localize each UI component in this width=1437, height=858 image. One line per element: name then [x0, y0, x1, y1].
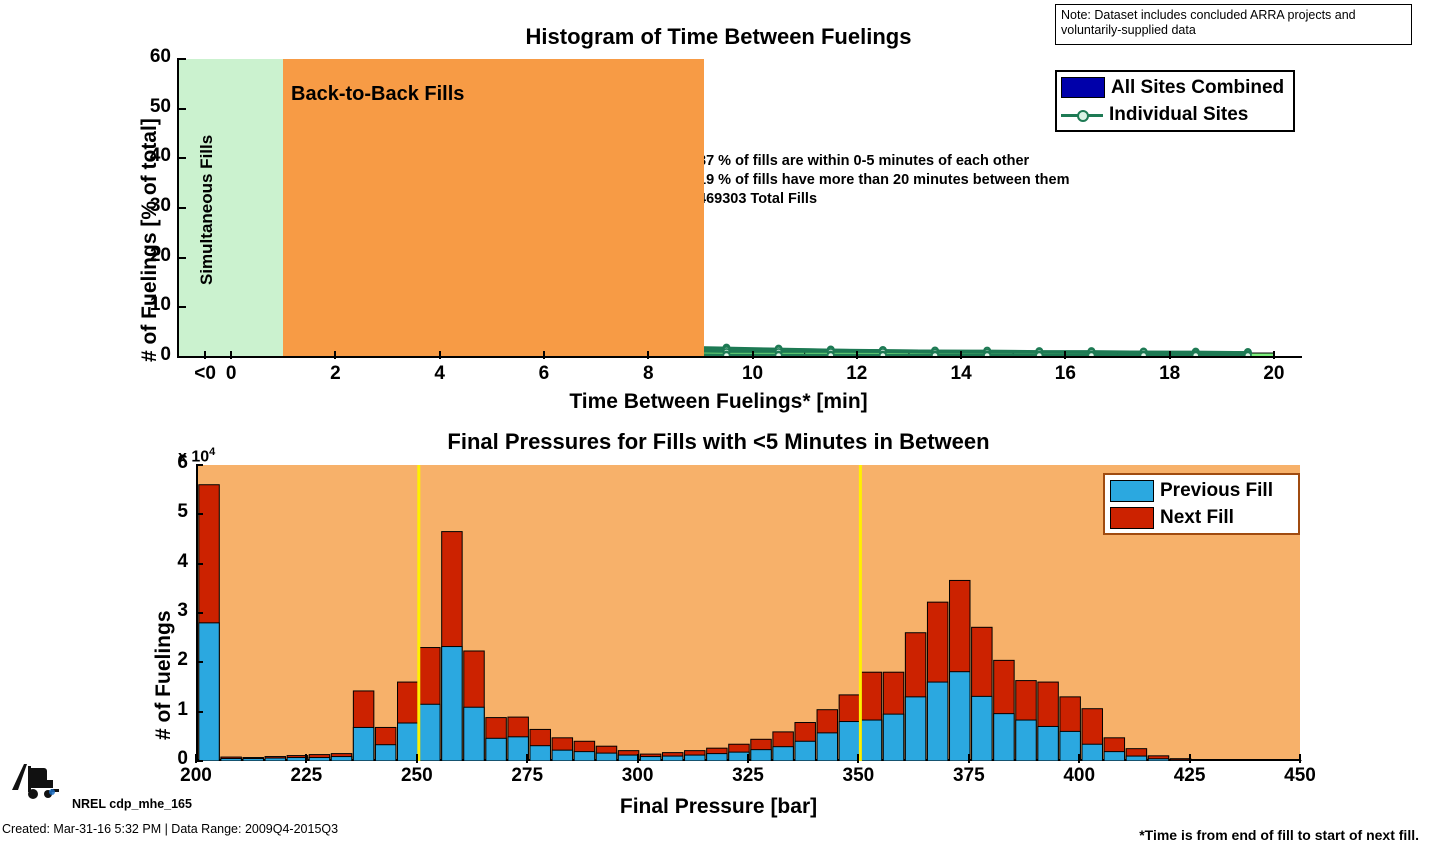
bottom-ytick-3: 3	[138, 600, 188, 622]
bottom-ytick-mark	[196, 661, 203, 663]
bottom-ytick-6: 6	[138, 452, 188, 474]
legend-label-next-fill: Next Fill	[1160, 507, 1234, 529]
bottom-xtick-375: 375	[934, 765, 1004, 787]
top-xtick-mark	[543, 351, 545, 359]
bottom-ytick-mark	[196, 760, 203, 762]
legend-item-next-fill: Next Fill	[1110, 504, 1293, 531]
top-ytick-30: 30	[121, 195, 171, 217]
top-ytick-mark	[179, 257, 186, 259]
bottom-xtick-400: 400	[1044, 765, 1114, 787]
top-xtick-18: 18	[1140, 363, 1200, 385]
legend-label-previous-fill: Previous Fill	[1160, 480, 1273, 502]
bottom-ytick-mark	[196, 464, 203, 466]
top-xtick-10: 10	[723, 363, 783, 385]
top-xtick-mark	[1273, 351, 1275, 359]
top-ytick-mark	[179, 207, 186, 209]
footnote-text: *Time is from end of fill to start of ne…	[0, 827, 1419, 843]
top-xtick-8: 8	[618, 363, 678, 385]
bottom-xtick-mark	[968, 754, 970, 763]
bottom-xtick-mark	[1299, 754, 1301, 763]
top-ytick-mark	[179, 356, 186, 358]
bottom-xtick-300: 300	[603, 765, 673, 787]
top-xtick-mark	[1169, 351, 1171, 359]
top-xtick-4: 4	[410, 363, 470, 385]
top-xtick-mark	[334, 351, 336, 359]
bottom-ytick-mark	[196, 711, 203, 713]
top-xtick-mark	[439, 351, 441, 359]
top-ytick-mark	[179, 58, 186, 60]
legend-bottom-chart: Previous Fill Next Fill	[1103, 473, 1300, 535]
bottom-ytick-5: 5	[138, 501, 188, 523]
bottom-xtick-425: 425	[1155, 765, 1225, 787]
bottom-xtick-mark	[526, 754, 528, 763]
top-xtick-mark	[230, 351, 232, 359]
top-xtick-mark	[647, 351, 649, 359]
previous-fill-swatch-icon	[1110, 480, 1154, 502]
top-ytick-mark	[179, 157, 186, 159]
top-chart-x-axis	[177, 356, 1302, 358]
top-xtick-mark	[752, 351, 754, 359]
top-ytick-50: 50	[121, 96, 171, 118]
bottom-xtick-250: 250	[382, 765, 452, 787]
next-fill-swatch-icon	[1110, 507, 1154, 529]
top-xtick-6: 6	[514, 363, 574, 385]
top-ytick-10: 10	[121, 294, 171, 316]
bottom-ytick-4: 4	[138, 551, 188, 573]
top-ytick-60: 60	[121, 46, 171, 68]
bottom-xtick-mark	[195, 754, 197, 763]
top-xtick-0: 0	[201, 363, 261, 385]
simultaneous-fills-band	[179, 59, 283, 357]
bottom-ytick-2: 2	[138, 649, 188, 671]
top-xtick-12: 12	[827, 363, 887, 385]
top-ytick-mark	[179, 108, 186, 110]
bottom-xtick-mark	[857, 754, 859, 763]
bottom-xtick-450: 450	[1265, 765, 1335, 787]
top-ytick-0: 0	[121, 344, 171, 366]
bottom-xtick-275: 275	[492, 765, 562, 787]
top-xtick-mark	[204, 351, 206, 359]
bottom-ytick-mark	[196, 513, 203, 515]
top-xtick-mark	[856, 351, 858, 359]
bottom-xtick-200: 200	[161, 765, 231, 787]
bottom-xtick-mark	[747, 754, 749, 763]
top-ytick-mark	[179, 306, 186, 308]
nrel-chart-id: NREL cdp_mhe_165	[72, 797, 192, 811]
bottom-chart-xlabel: Final Pressure [bar]	[0, 795, 1437, 819]
bottom-xtick-mark	[637, 754, 639, 763]
back-to-back-fills-label: Back-to-Back Fills	[291, 83, 464, 106]
bottom-xtick-350: 350	[823, 765, 893, 787]
bottom-xtick-mark	[1189, 754, 1191, 763]
top-ytick-20: 20	[121, 245, 171, 267]
simultaneous-fills-label: Simultaneous Fills	[197, 135, 217, 285]
top-xtick-20: 20	[1244, 363, 1304, 385]
top-chart-xlabel: Time Between Fuelings* [min]	[0, 390, 1437, 414]
top-chart-title: Histogram of Time Between Fuelings	[0, 24, 1437, 50]
bottom-ytick-1: 1	[138, 699, 188, 721]
top-xtick-mark	[960, 351, 962, 359]
top-xtick-16: 16	[1035, 363, 1095, 385]
top-xtick-2: 2	[305, 363, 365, 385]
bottom-ytick-mark	[196, 563, 203, 565]
bottom-ytick-mark	[196, 612, 203, 614]
top-xtick-mark	[1064, 351, 1066, 359]
bottom-xtick-mark	[416, 754, 418, 763]
top-xtick-14: 14	[931, 363, 991, 385]
bottom-xtick-mark	[305, 754, 307, 763]
bottom-xtick-325: 325	[713, 765, 783, 787]
top-chart-plot-area: Back-to-Back Fills Simultaneous Fills	[179, 59, 1300, 357]
bottom-xtick-225: 225	[271, 765, 341, 787]
forklift-icon	[8, 760, 60, 800]
bottom-xtick-mark	[1078, 754, 1080, 763]
top-ytick-40: 40	[121, 145, 171, 167]
legend-item-previous-fill: Previous Fill	[1110, 477, 1293, 504]
bottom-chart-title: Final Pressures for Fills with <5 Minute…	[0, 429, 1437, 455]
